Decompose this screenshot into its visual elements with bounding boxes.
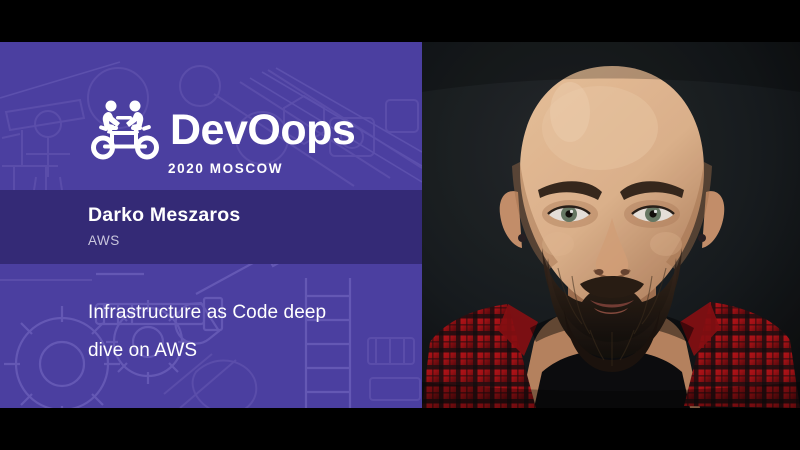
logo-row: DevOops [88,100,355,160]
letterbox-bar-bottom [0,408,800,450]
conference-slide-panel: DevOops 2020 MOSCOW Darko Meszaros AWS I… [0,42,422,408]
talk-title-line-2: dive on AWS [88,332,398,370]
video-player-frame: DevOops 2020 MOSCOW Darko Meszaros AWS I… [0,0,800,450]
letterbox-bar-top [0,0,800,42]
talk-title: Infrastructure as Code deep dive on AWS [88,294,398,370]
conference-logo-block: DevOops 2020 MOSCOW [0,42,422,190]
video-content: DevOops 2020 MOSCOW Darko Meszaros AWS I… [0,42,800,408]
speaker-portrait-photo [422,42,800,408]
speaker-company: AWS [88,233,120,248]
talk-title-line-1: Infrastructure as Code deep [88,294,398,332]
conference-year-city: 2020 MOSCOW [168,161,283,176]
tandem-bicycle-icon [88,100,162,160]
speaker-info-band: Darko Meszaros AWS [0,190,422,264]
speaker-name: Darko Meszaros [88,204,240,227]
devoops-wordmark: DevOops [170,109,355,152]
